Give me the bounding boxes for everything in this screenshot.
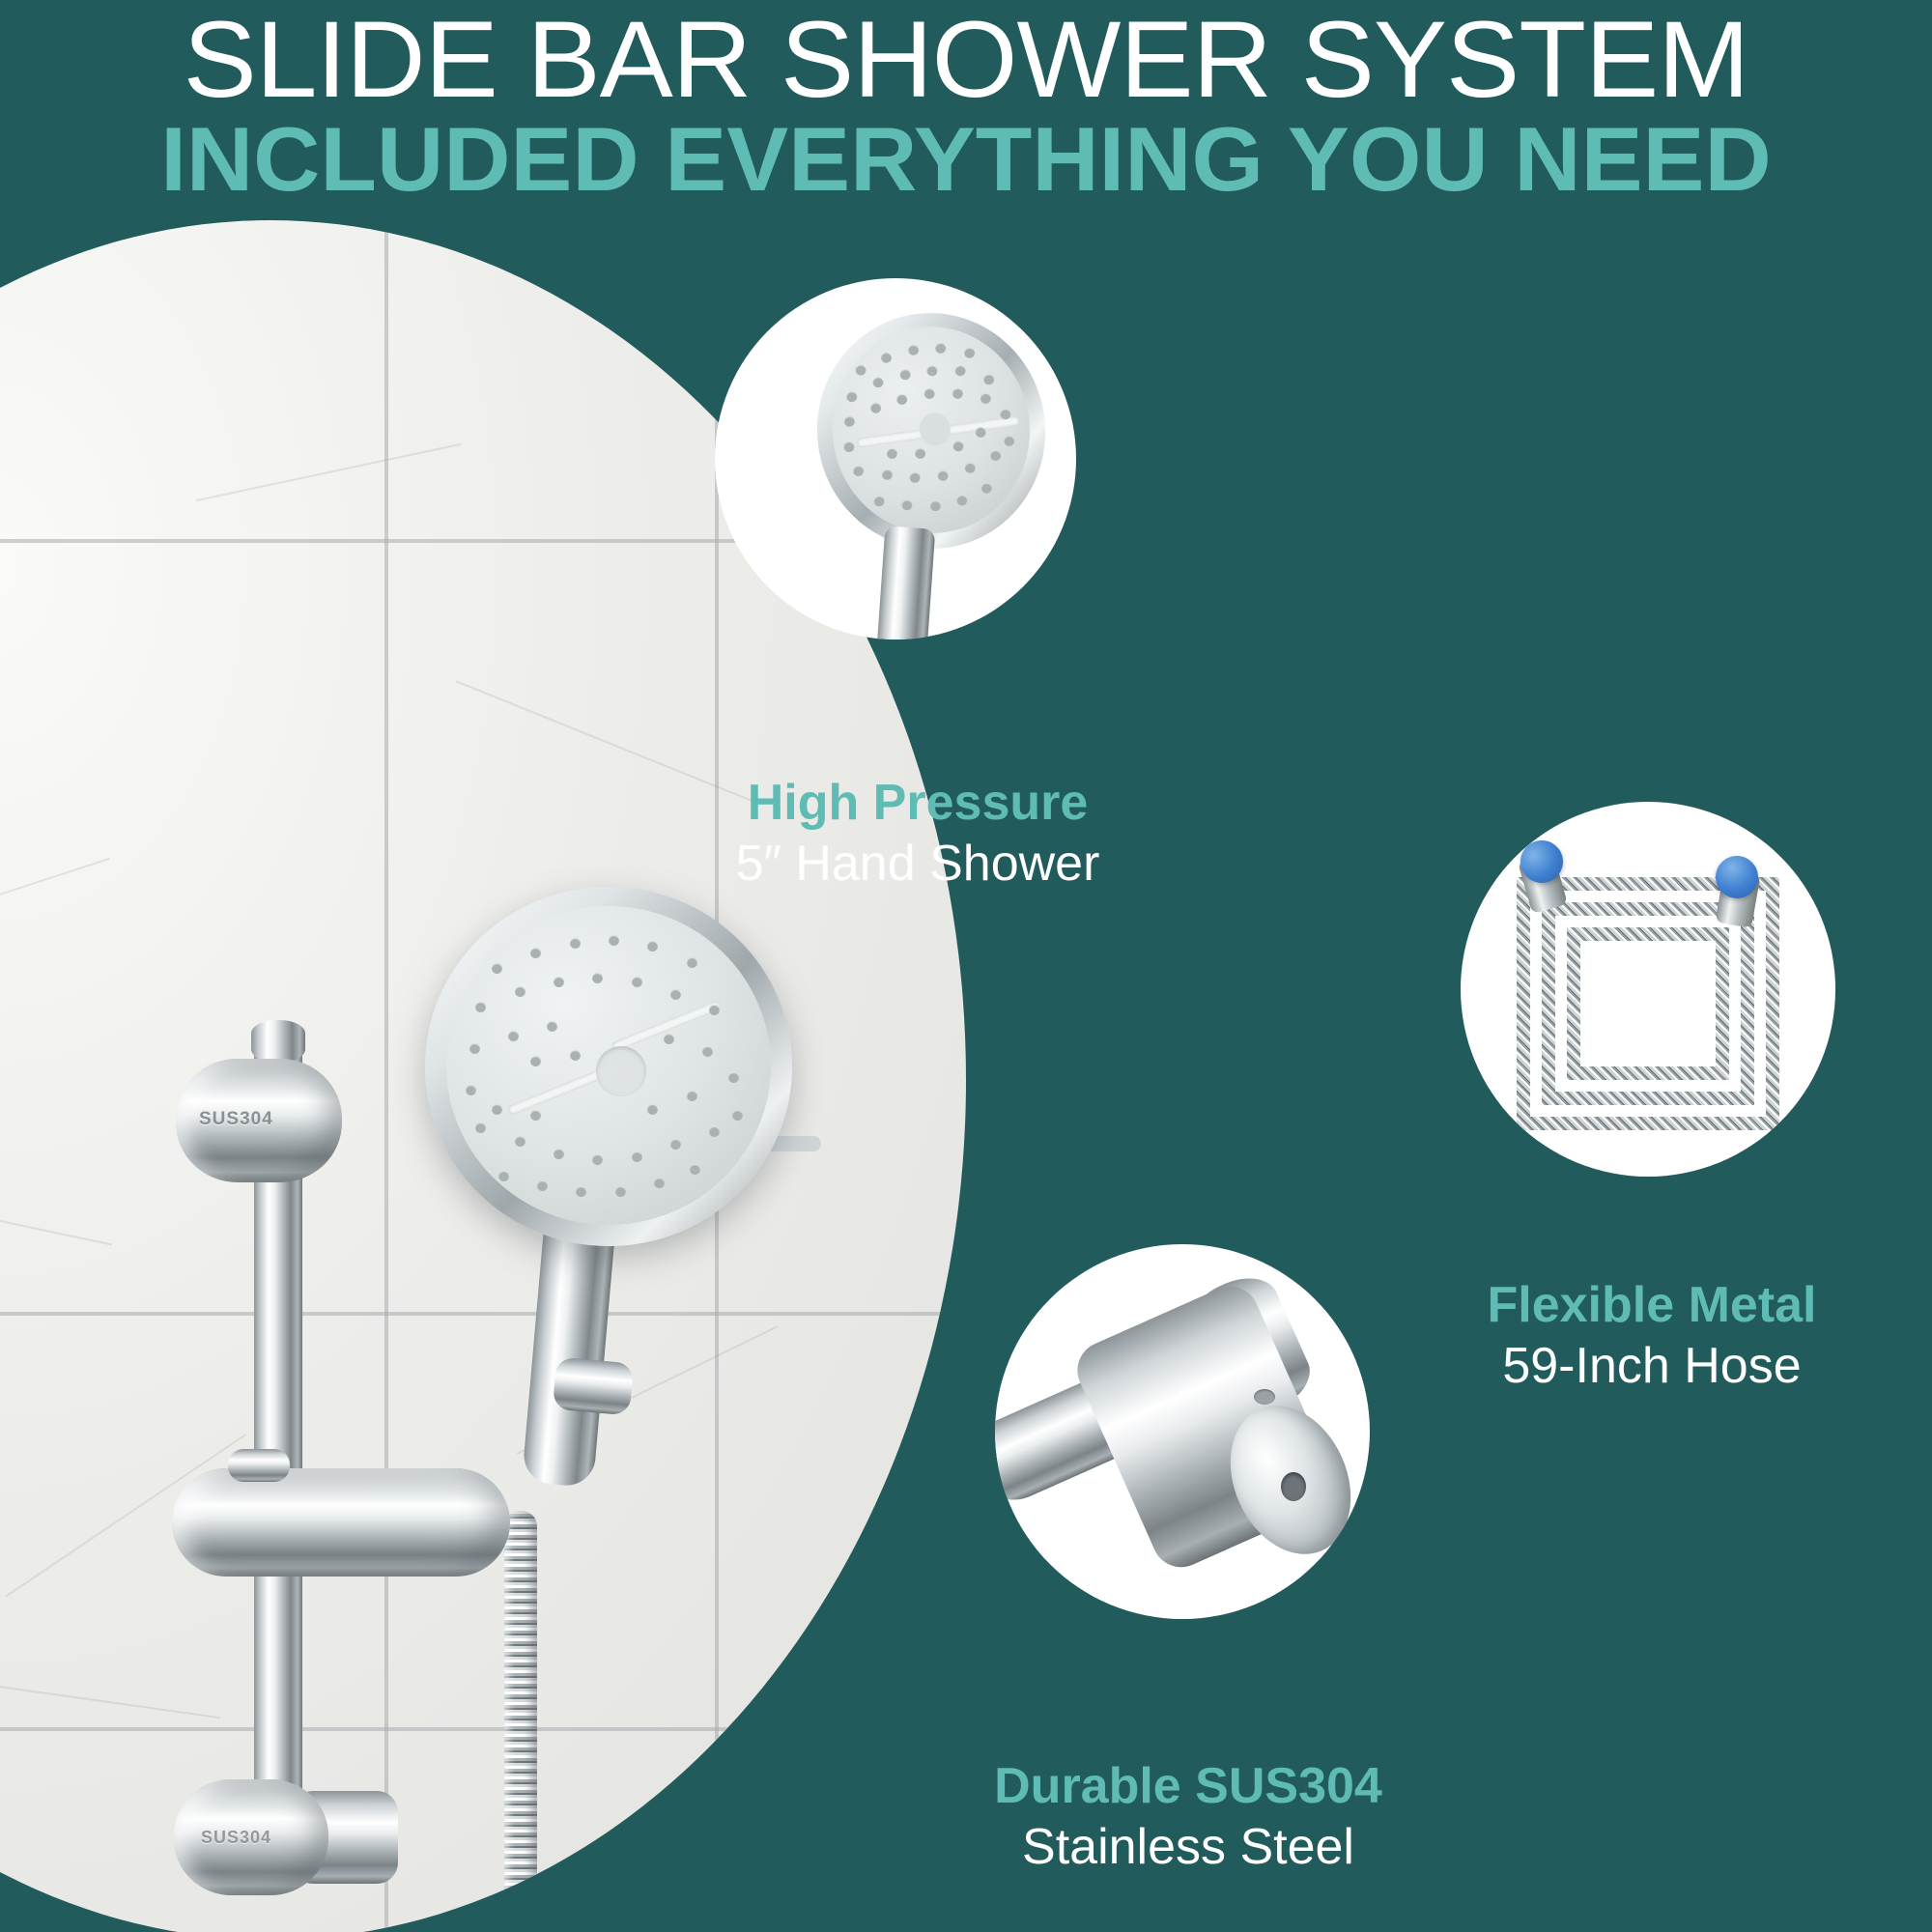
bracket-mounting-hole — [1281, 1472, 1306, 1501]
feature-label-flexible-metal: Flexible Metal 59-Inch Hose — [1391, 1275, 1913, 1397]
feature-title: Durable SUS304 — [918, 1756, 1459, 1816]
shower-hose — [504, 1511, 537, 1932]
feature-title: Flexible Metal — [1391, 1275, 1913, 1335]
marble-vein — [196, 443, 461, 501]
spray-mode-button — [596, 1046, 646, 1096]
slide-bar-top-cap — [251, 1020, 305, 1063]
feature-image-flexible-metal — [1461, 802, 1835, 1177]
spray-mode-button — [917, 411, 952, 447]
bracket-set-screw — [1254, 1389, 1275, 1405]
page-title-secondary: INCLUDED EVERYTHING YOU NEED — [0, 114, 1932, 205]
hose-coil — [1567, 927, 1729, 1080]
sus304-engraving-top: SUS304 — [199, 1109, 273, 1130]
tile-grout-line — [384, 220, 388, 1932]
hose-coil-group — [1461, 802, 1835, 1177]
hand-shower-face — [819, 314, 1043, 546]
feature-image-high-pressure — [715, 278, 1076, 639]
feature-subtitle: Stainless Steel — [918, 1816, 1459, 1878]
feature-subtitle: 5″ Hand Shower — [667, 833, 1169, 895]
feature-label-high-pressure: High Pressure 5″ Hand Shower — [667, 773, 1169, 895]
slider-adjust-knob — [228, 1449, 290, 1482]
tile-grout-line — [0, 1312, 966, 1316]
hand-shower-handle — [877, 526, 936, 639]
sliding-holder-bracket — [172, 1468, 510, 1577]
page-title-primary: SLIDE BAR SHOWER SYSTEM — [0, 6, 1932, 114]
hand-shower-collar — [553, 1357, 634, 1416]
hand-shower-face — [446, 906, 771, 1225]
header-banner: SLIDE BAR SHOWER SYSTEM INCLUDED EVERYTH… — [0, 0, 1932, 205]
marble-vein — [0, 858, 110, 937]
hand-shower-head — [425, 887, 792, 1246]
sus304-engraving-bottom: SUS304 — [201, 1828, 271, 1848]
feature-title: High Pressure — [667, 773, 1169, 833]
tile-grout-line — [0, 1727, 966, 1731]
feature-image-durable-sus304 — [995, 1244, 1370, 1619]
marble-vein — [0, 1168, 112, 1246]
feature-subtitle: 59-Inch Hose — [1391, 1335, 1913, 1397]
hand-shower-head-icon — [802, 298, 1061, 563]
feature-label-durable-sus304: Durable SUS304 Stainless Steel — [918, 1756, 1459, 1878]
marble-vein — [0, 1661, 220, 1719]
